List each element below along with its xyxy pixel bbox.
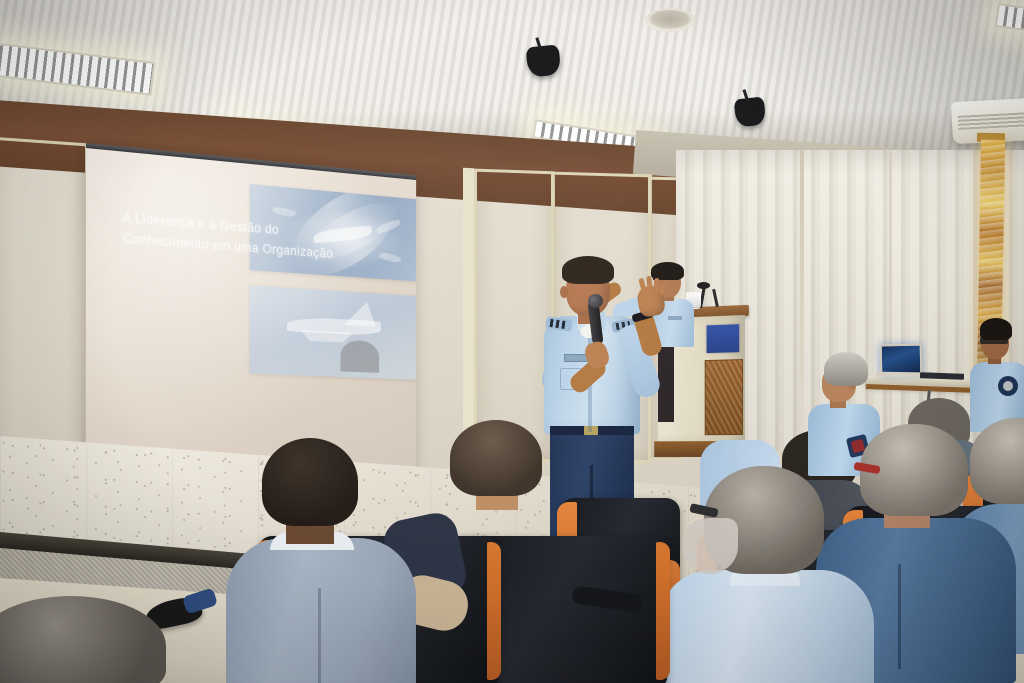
laptop-base: [876, 372, 922, 378]
blinds-seam: [800, 150, 804, 450]
torso: [658, 570, 874, 683]
hair: [980, 318, 1012, 340]
shirt-seam: [898, 564, 901, 669]
torso: [226, 538, 416, 683]
name-tag: [668, 316, 682, 320]
hair: [562, 256, 614, 284]
hair: [450, 420, 542, 496]
hair: [824, 352, 868, 386]
jacket-seam: [318, 588, 321, 683]
finger: [659, 283, 666, 296]
ceiling-vent: [645, 8, 695, 32]
air-conditioner-grille: [958, 112, 1024, 131]
fighter-jet-photo: [250, 285, 416, 380]
blinds-seam: [889, 152, 892, 450]
podium-emblem: [707, 324, 740, 353]
hair: [262, 438, 358, 526]
hair: [0, 596, 166, 683]
name-tag: [564, 354, 588, 362]
shoulder-patch-inner: [1003, 381, 1013, 391]
audience-member: [0, 596, 176, 683]
audience-member: [404, 420, 584, 682]
podium-wood-inlay: [705, 359, 743, 435]
beard: [682, 518, 738, 574]
audience-member: [676, 466, 876, 683]
audience-member: [234, 438, 394, 683]
chair-orange-trim: [656, 542, 670, 680]
auditorium-photo-scene: A Liderança e a Gestão do Conhecimento e…: [0, 0, 1024, 683]
finger: [646, 276, 653, 292]
panel-divider: [463, 168, 474, 459]
wood-wall-panel: [0, 137, 88, 480]
ear: [560, 286, 568, 298]
